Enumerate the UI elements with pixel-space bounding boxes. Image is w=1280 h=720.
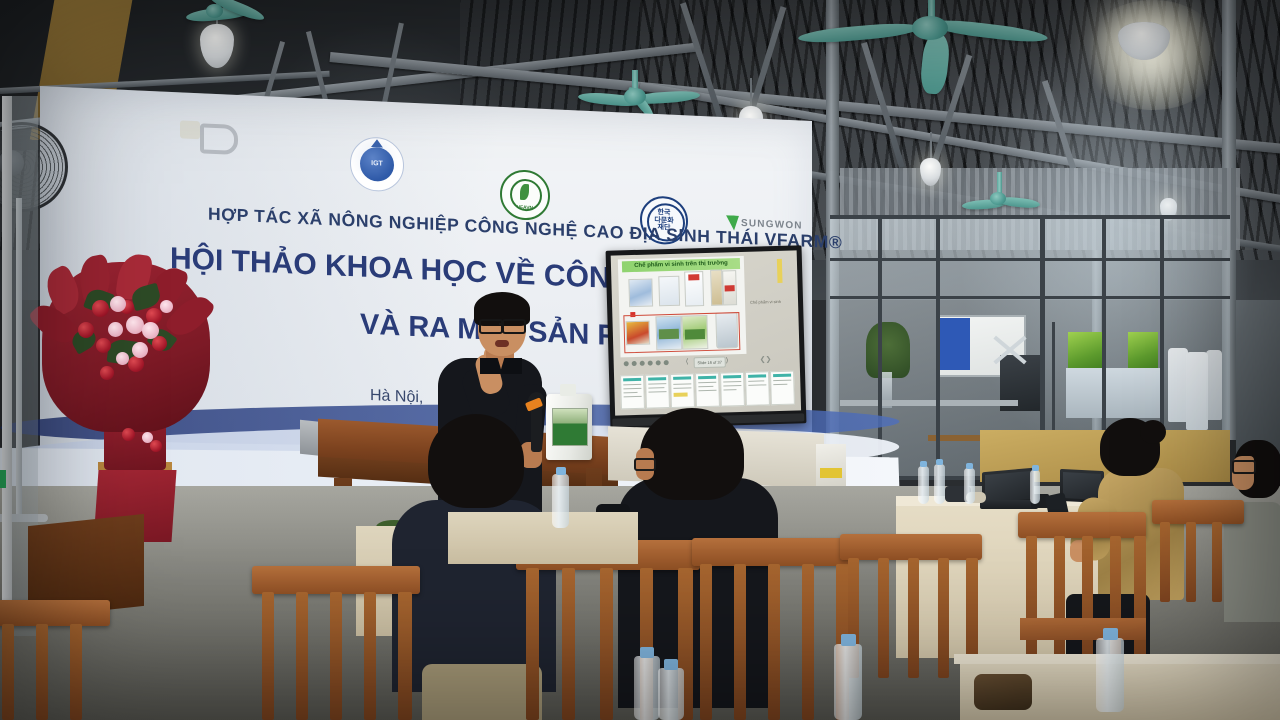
attendee-right-head [640, 408, 744, 500]
jerrycan-label [552, 408, 588, 446]
hanging-lab-coat-2 [1186, 352, 1208, 430]
slide-product-3 [684, 271, 704, 307]
slide-nav-label: Slide 16 of 37 [694, 356, 726, 368]
product-jerrycan [546, 394, 592, 460]
hanging-lab-coat-1 [1168, 348, 1188, 422]
green-exit-sticker [0, 470, 6, 488]
slide-product-2 [658, 276, 680, 307]
lab-bench [840, 400, 1018, 406]
speaker-glasses-right-lens [502, 319, 526, 334]
projection-screen: Chế phẩm vi sinh trên thị trường [606, 245, 807, 428]
glass-mullion-h1 [830, 258, 1230, 261]
slide-nav[interactable]: ⟨ Slide 16 of 37 ⟩ [686, 355, 732, 367]
water-bottle [964, 468, 975, 504]
speaker-glasses-left-lens [479, 319, 503, 334]
laptop-1-base [980, 500, 1038, 509]
attendee-left-trousers [422, 664, 542, 720]
water-bottle [634, 656, 660, 720]
draped-table-center [448, 512, 638, 564]
leather-bag [974, 674, 1032, 710]
attendee-left-head [428, 414, 524, 508]
projection-screen-surface: Chế phẩm vi sinh trên thị trường [611, 250, 801, 415]
list-item [670, 373, 695, 408]
speaker-mouth [495, 340, 509, 347]
water-bottle [934, 464, 945, 504]
slide-product-5 [722, 270, 737, 305]
jerrycan-neck [560, 384, 576, 396]
slide-product-4 [710, 270, 723, 306]
hanging-lab-coat-3 [1206, 350, 1222, 420]
slide-body: Chế phẩm vi sinh trên thị trường [618, 256, 747, 357]
slide-highlight-box [623, 312, 740, 353]
glass-mullion-v2 [936, 215, 940, 480]
slide-thumbnail-strip[interactable] [618, 370, 799, 409]
list-item [770, 371, 795, 406]
slide-product-1 [628, 278, 653, 307]
water-bottle [918, 466, 929, 504]
left-door-frame [2, 96, 12, 636]
slide-toolbar [624, 358, 684, 369]
white-storage-box [816, 444, 846, 486]
slide-side-note: Chế phẩm vi sinh [750, 299, 786, 306]
water-bottle [834, 644, 862, 720]
glass-mullion-h2 [830, 296, 1230, 299]
yellow-lid [820, 468, 842, 478]
glass-panel-far-right [1236, 300, 1280, 460]
attendee-right-glasses [634, 458, 656, 471]
woman-hair-bun [1140, 420, 1166, 444]
window-green-view-1 [1068, 332, 1104, 372]
right-edge-glasses [1232, 460, 1256, 474]
water-bottle [658, 668, 684, 720]
list-item [720, 372, 745, 407]
speaker-glasses-bridge [499, 323, 503, 325]
slide-scrollbar [777, 259, 783, 283]
microphone-body [531, 406, 542, 452]
seminar-photo-scene: IGT VFAVN 한국다문화재단 SUNGWON HỢP TÁC XÃ NÔN… [0, 0, 1280, 720]
list-item [745, 371, 770, 406]
list-item [695, 373, 720, 408]
list-item [620, 375, 645, 410]
window-green-view-2 [1128, 332, 1158, 372]
slide-expand-icon[interactable]: ❮❯ [760, 355, 772, 363]
water-bottle [1096, 638, 1124, 712]
interior-flower-vase-bouquet [866, 322, 910, 378]
water-bottle [1030, 470, 1040, 504]
glass-mullion-top [830, 215, 1230, 219]
list-item [645, 374, 670, 409]
window-curtain [1066, 368, 1160, 418]
water-bottle [552, 474, 569, 528]
vfarm-logo [180, 118, 240, 153]
whiteboard-blue-panel [940, 318, 970, 370]
